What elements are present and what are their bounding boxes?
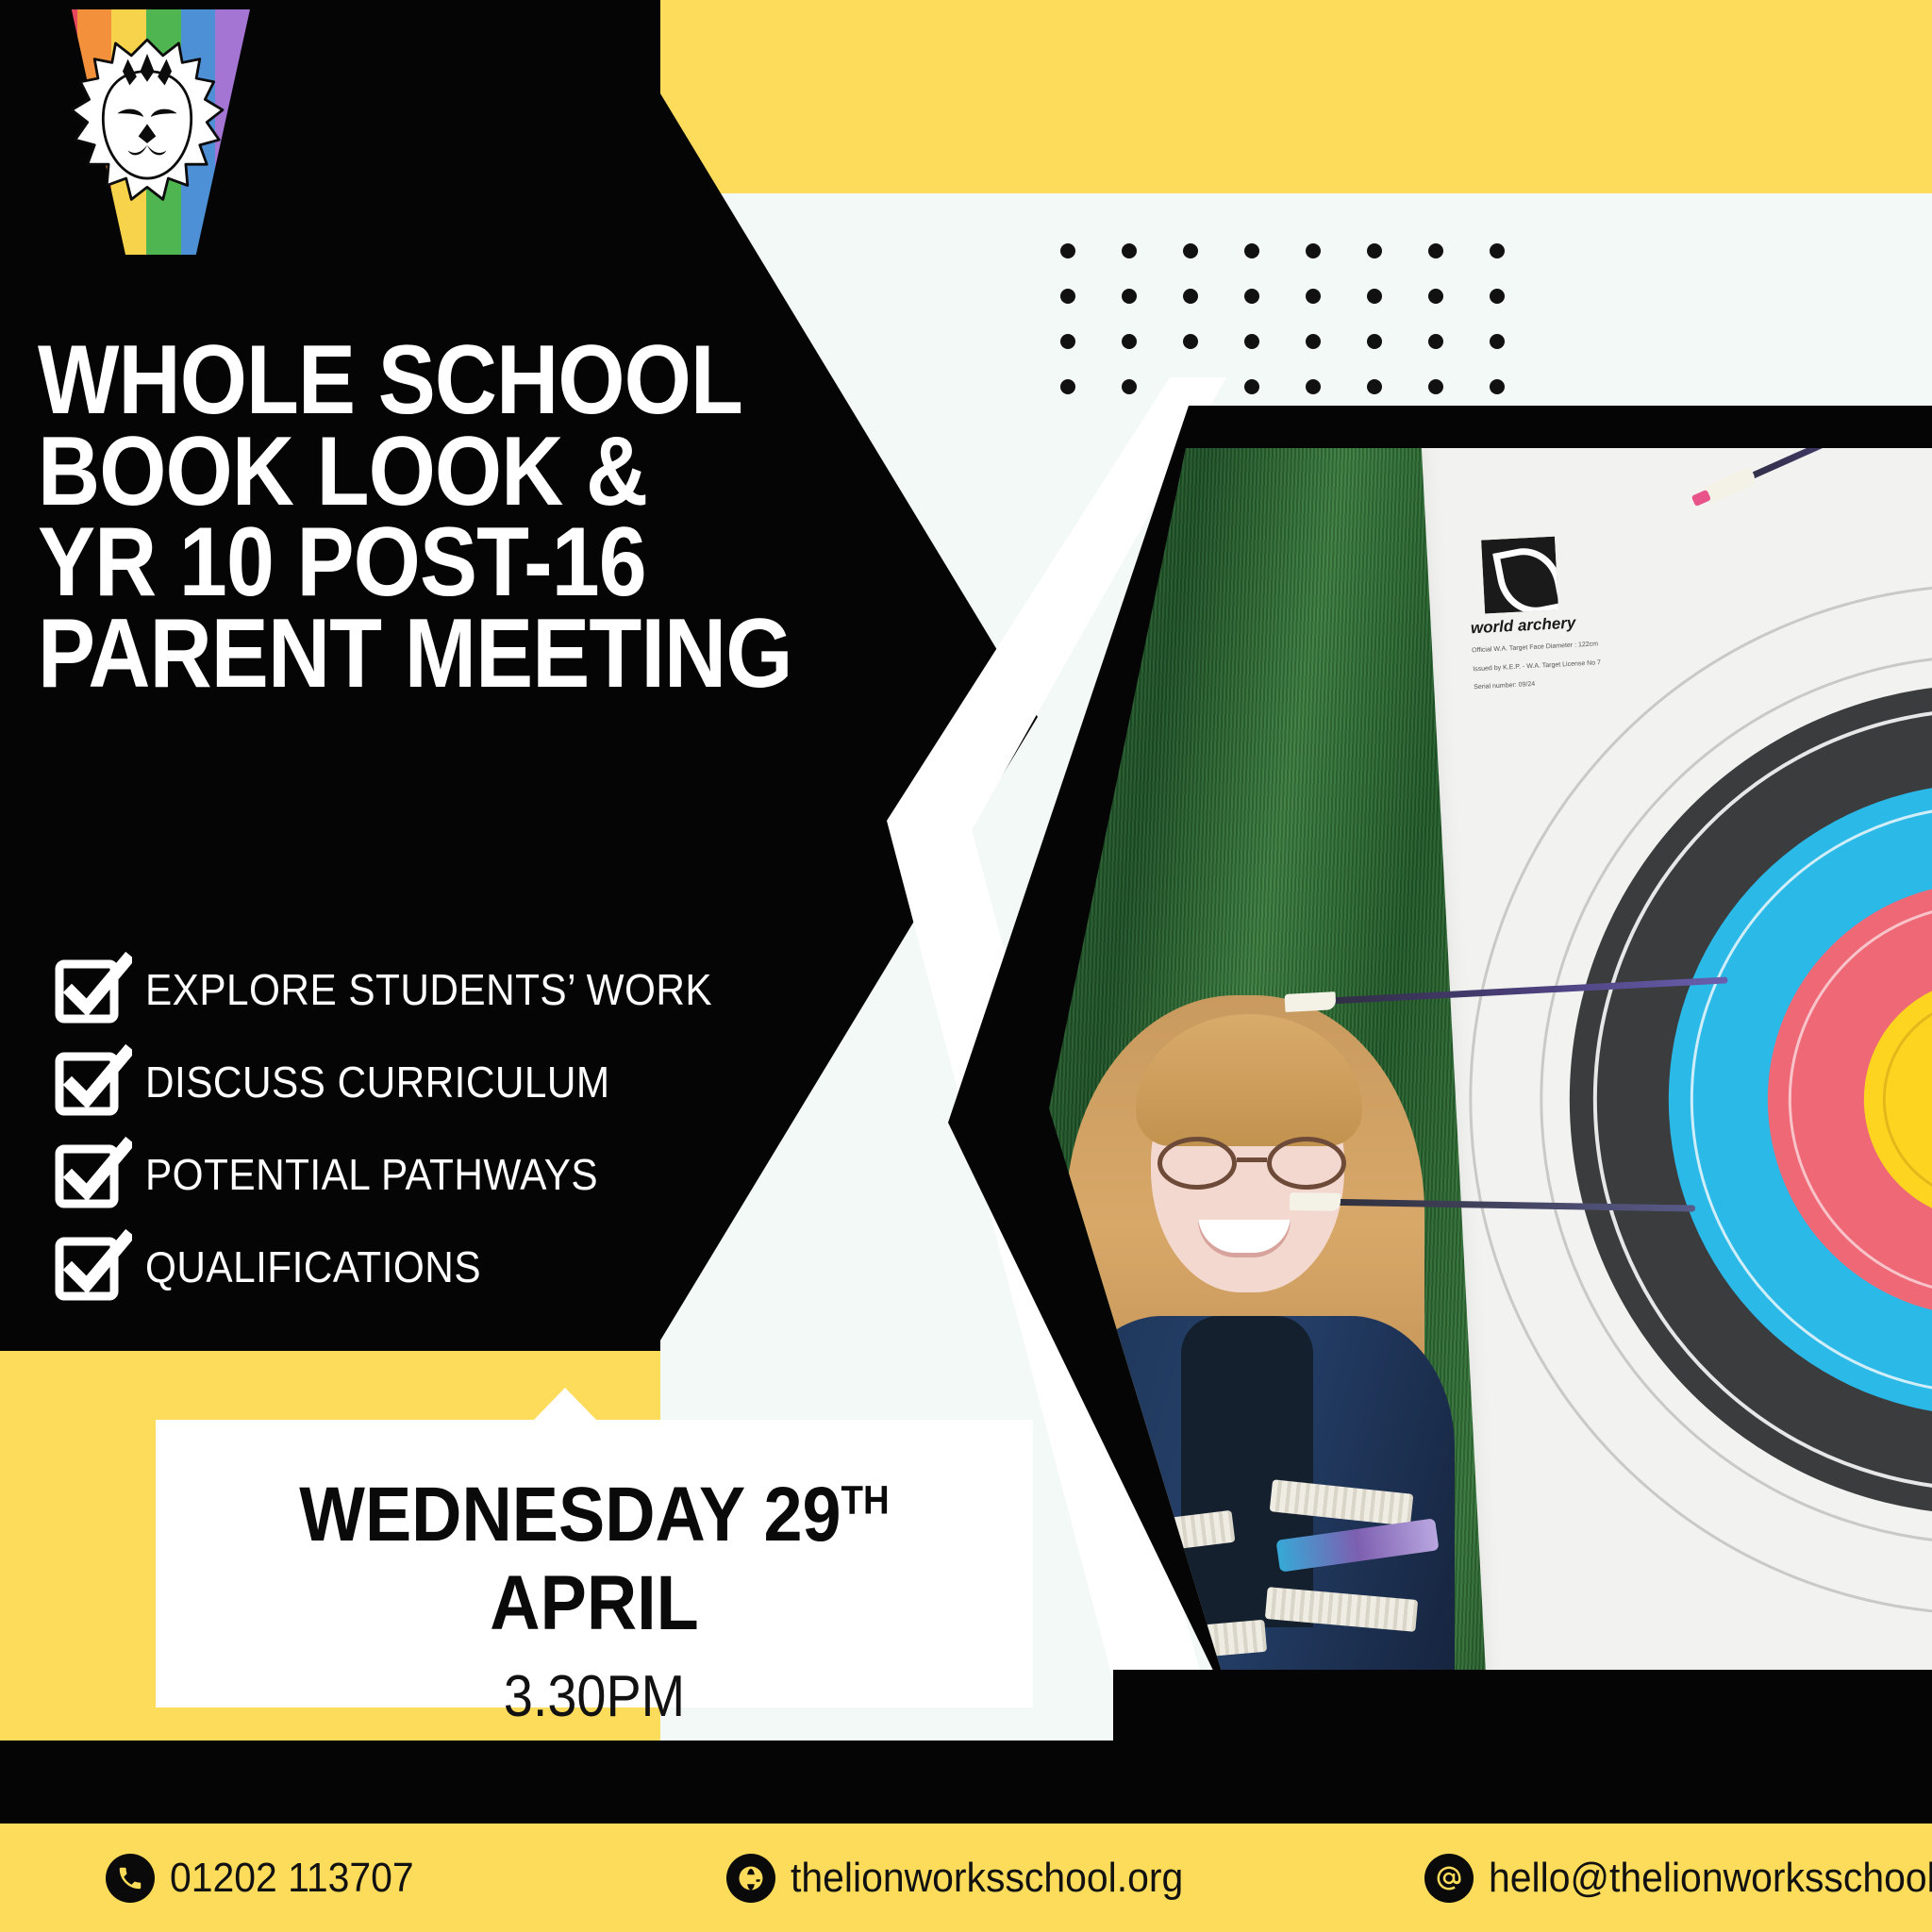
event-date-ordinal: TH — [841, 1478, 890, 1524]
yellow-top-band — [528, 0, 1932, 193]
event-date-day: WEDNESDAY 29 — [299, 1472, 841, 1557]
phone-icon — [106, 1854, 155, 1903]
world-archery-label: world archery — [1470, 612, 1612, 639]
dot — [1490, 334, 1505, 349]
dot — [1244, 334, 1259, 349]
headline-line-3: YR 10 POST-16 — [38, 517, 802, 608]
checklist-item: QUALIFICATIONS — [55, 1221, 772, 1313]
checkbox-checked-icon — [55, 1143, 117, 1206]
event-time: 3.30PM — [200, 1663, 990, 1730]
glasses-lens-left — [1158, 1137, 1237, 1190]
dot — [1060, 334, 1075, 349]
dot — [1428, 379, 1443, 394]
dot — [1122, 289, 1137, 304]
dot — [1306, 289, 1321, 304]
dot — [1060, 379, 1075, 394]
footer-contact-bar: 01202 113707 thelionworksschool.org hell… — [0, 1824, 1932, 1932]
dot — [1306, 334, 1321, 349]
phone-number: 01202 113707 — [170, 1855, 414, 1902]
school-logo[interactable] — [42, 9, 250, 255]
photo-bottom-black-wedge — [1113, 1670, 1932, 1743]
dot — [1244, 289, 1259, 304]
contact-website[interactable]: thelionworksschool.org — [726, 1854, 1213, 1903]
lion-head-icon — [59, 30, 235, 228]
glasses-bridge — [1237, 1158, 1267, 1162]
date-banner: WEDNESDAY 29TH APRIL 3.30PM — [156, 1420, 1033, 1707]
dot — [1428, 334, 1443, 349]
dot — [1367, 334, 1382, 349]
headline-line-4: PARENT MEETING — [38, 608, 802, 700]
dot — [1183, 243, 1198, 258]
headline-line-2: BOOK LOOK & — [38, 426, 802, 518]
event-date: WEDNESDAY 29TH APRIL — [200, 1471, 990, 1648]
website-url: thelionworksschool.org — [791, 1855, 1183, 1902]
dot — [1367, 379, 1382, 394]
banner-notch — [533, 1388, 597, 1421]
contact-email[interactable]: hello@thelionworksschool.org — [1424, 1854, 1932, 1903]
contact-phone[interactable]: 01202 113707 — [106, 1854, 432, 1903]
decorative-dot-grid — [1060, 243, 1551, 425]
dot — [1122, 243, 1137, 258]
dot — [1244, 379, 1259, 394]
dot — [1490, 289, 1505, 304]
dot — [1060, 289, 1075, 304]
checkbox-checked-icon — [55, 958, 117, 1021]
arrow-fletching — [1285, 991, 1337, 1012]
dot — [1367, 243, 1382, 258]
inner-top — [1181, 1316, 1313, 1627]
checklist-item-label: DISCUSS CURRICULUM — [145, 1057, 610, 1108]
poster-headline: WHOLE SCHOOL BOOK LOOK & YR 10 POST-16 P… — [38, 335, 802, 700]
checklist-item: EXPLORE STUDENTS’ WORK — [55, 943, 772, 1036]
dot — [1490, 243, 1505, 258]
dot — [1306, 243, 1321, 258]
checklist-item-label: QUALIFICATIONS — [145, 1241, 481, 1292]
event-date-month: APRIL — [490, 1560, 698, 1646]
archery-photo: world archery Official W.A. Target Face … — [1049, 448, 1932, 1693]
arrow-fletching — [1290, 1192, 1341, 1211]
dot — [1060, 243, 1075, 258]
glasses-icon — [1158, 1137, 1346, 1190]
checkbox-checked-icon — [55, 1051, 117, 1113]
checklist-item-label: EXPLORE STUDENTS’ WORK — [145, 964, 712, 1015]
world-archery-mark-icon — [1481, 537, 1558, 614]
world-archery-logo: world archery Official W.A. Target Face … — [1466, 534, 1613, 655]
dot — [1490, 379, 1505, 394]
dot — [1183, 334, 1198, 349]
dot — [1306, 379, 1321, 394]
dot — [1367, 289, 1382, 304]
dot — [1122, 379, 1137, 394]
black-footer-band — [0, 1740, 1932, 1824]
dot — [1244, 243, 1259, 258]
dot — [1428, 289, 1443, 304]
dot — [1122, 334, 1137, 349]
checklist-item: DISCUSS CURRICULUM — [55, 1036, 772, 1128]
globe-icon — [726, 1854, 775, 1903]
headline-line-1: WHOLE SCHOOL — [38, 335, 802, 426]
email-address: hello@thelionworksschool.org — [1489, 1855, 1932, 1902]
at-sign-icon — [1424, 1854, 1474, 1903]
agenda-checklist: EXPLORE STUDENTS’ WORK DISCUSS CURRICULU… — [55, 943, 772, 1313]
dot — [1428, 243, 1443, 258]
checkbox-checked-icon — [55, 1236, 117, 1298]
poster-canvas: world archery Official W.A. Target Face … — [0, 0, 1932, 1932]
checklist-item: POTENTIAL PATHWAYS — [55, 1128, 772, 1221]
glasses-lens-right — [1267, 1137, 1346, 1190]
checklist-item-label: POTENTIAL PATHWAYS — [145, 1149, 598, 1200]
dot — [1183, 289, 1198, 304]
